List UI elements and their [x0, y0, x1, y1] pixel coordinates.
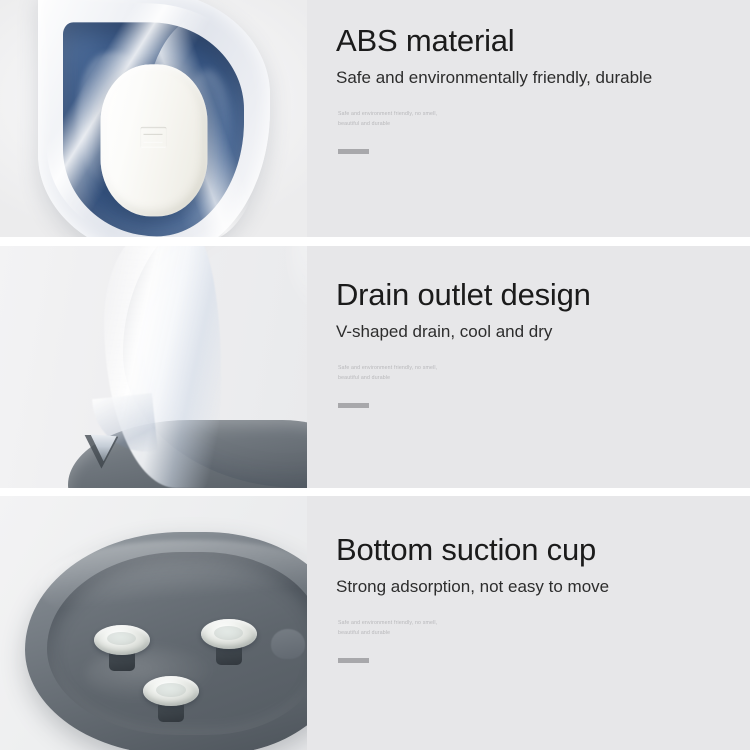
feature-panel-drain-outlet-design: Drain outlet design V-shaped drain, cool…	[0, 246, 750, 488]
panel-photo-drain-outlet-design	[0, 246, 307, 488]
panel-text-bottom-suction-cup: Bottom suction cup Strong adsorption, no…	[307, 496, 750, 750]
fineprint-line-2: beautiful and durable	[338, 629, 609, 639]
panel-text-abs-material: ABS material Safe and environmentally fr…	[307, 0, 750, 237]
fineprint-line-1: Safe and environment friendly, no smell,	[338, 364, 591, 374]
photo-backdrop	[0, 0, 307, 237]
suction-cup-head	[143, 676, 199, 706]
panel-subheading: Safe and environmentally friendly, durab…	[336, 68, 652, 88]
tray-inner-floor	[47, 552, 307, 735]
panel-photo-bottom-suction-cup	[0, 496, 307, 750]
suction-cup	[143, 676, 199, 722]
panel-photo-abs-material	[0, 0, 307, 237]
photo-backdrop	[0, 246, 307, 488]
panel-heading: Drain outlet design	[336, 279, 591, 312]
suction-cup	[94, 625, 150, 671]
panel-subheading: Strong adsorption, not easy to move	[336, 577, 609, 597]
suction-cup	[201, 619, 257, 665]
fineprint-line-2: beautiful and durable	[338, 120, 652, 130]
panel-heading: ABS material	[336, 25, 652, 58]
accent-bar	[338, 403, 369, 408]
fineprint-line-1: Safe and environment friendly, no smell,	[338, 619, 609, 629]
panel-heading: Bottom suction cup	[336, 534, 609, 567]
panel-fineprint: Safe and environment friendly, no smell,…	[338, 619, 609, 638]
text-block: Drain outlet design V-shaped drain, cool…	[336, 279, 591, 408]
text-block: Bottom suction cup Strong adsorption, no…	[336, 534, 609, 663]
accent-bar	[338, 658, 369, 663]
body-highlight-upper	[289, 246, 307, 329]
panel-fineprint: Safe and environment friendly, no smell,…	[338, 110, 652, 129]
white-soap-bar	[100, 64, 207, 216]
fineprint-line-1: Safe and environment friendly, no smell,	[338, 110, 652, 120]
feature-panel-bottom-suction-cup: Bottom suction cup Strong adsorption, no…	[0, 496, 750, 750]
panel-subheading: V-shaped drain, cool and dry	[336, 322, 591, 342]
fineprint-line-2: beautiful and durable	[338, 374, 591, 384]
tray-mount-nub	[271, 629, 305, 659]
suction-cup-head	[201, 619, 257, 649]
photo-backdrop	[0, 496, 307, 750]
leaf-soap-dish	[38, 0, 270, 237]
grey-tray-underside	[25, 532, 307, 750]
feature-panel-abs-material: ABS material Safe and environmentally fr…	[0, 0, 750, 237]
text-block: ABS material Safe and environmentally fr…	[336, 25, 652, 154]
accent-bar	[338, 149, 369, 154]
product-infographic-page: ABS material Safe and environmentally fr…	[0, 0, 750, 750]
suction-cup-dimple	[214, 626, 243, 640]
soap-emboss-logo	[141, 126, 167, 147]
panel-fineprint: Safe and environment friendly, no smell,…	[338, 364, 591, 383]
panel-text-drain-outlet-design: Drain outlet design V-shaped drain, cool…	[307, 246, 750, 488]
suction-cup-head	[94, 625, 150, 655]
suction-cup-dimple	[107, 632, 136, 646]
suction-cup-dimple	[156, 683, 185, 697]
